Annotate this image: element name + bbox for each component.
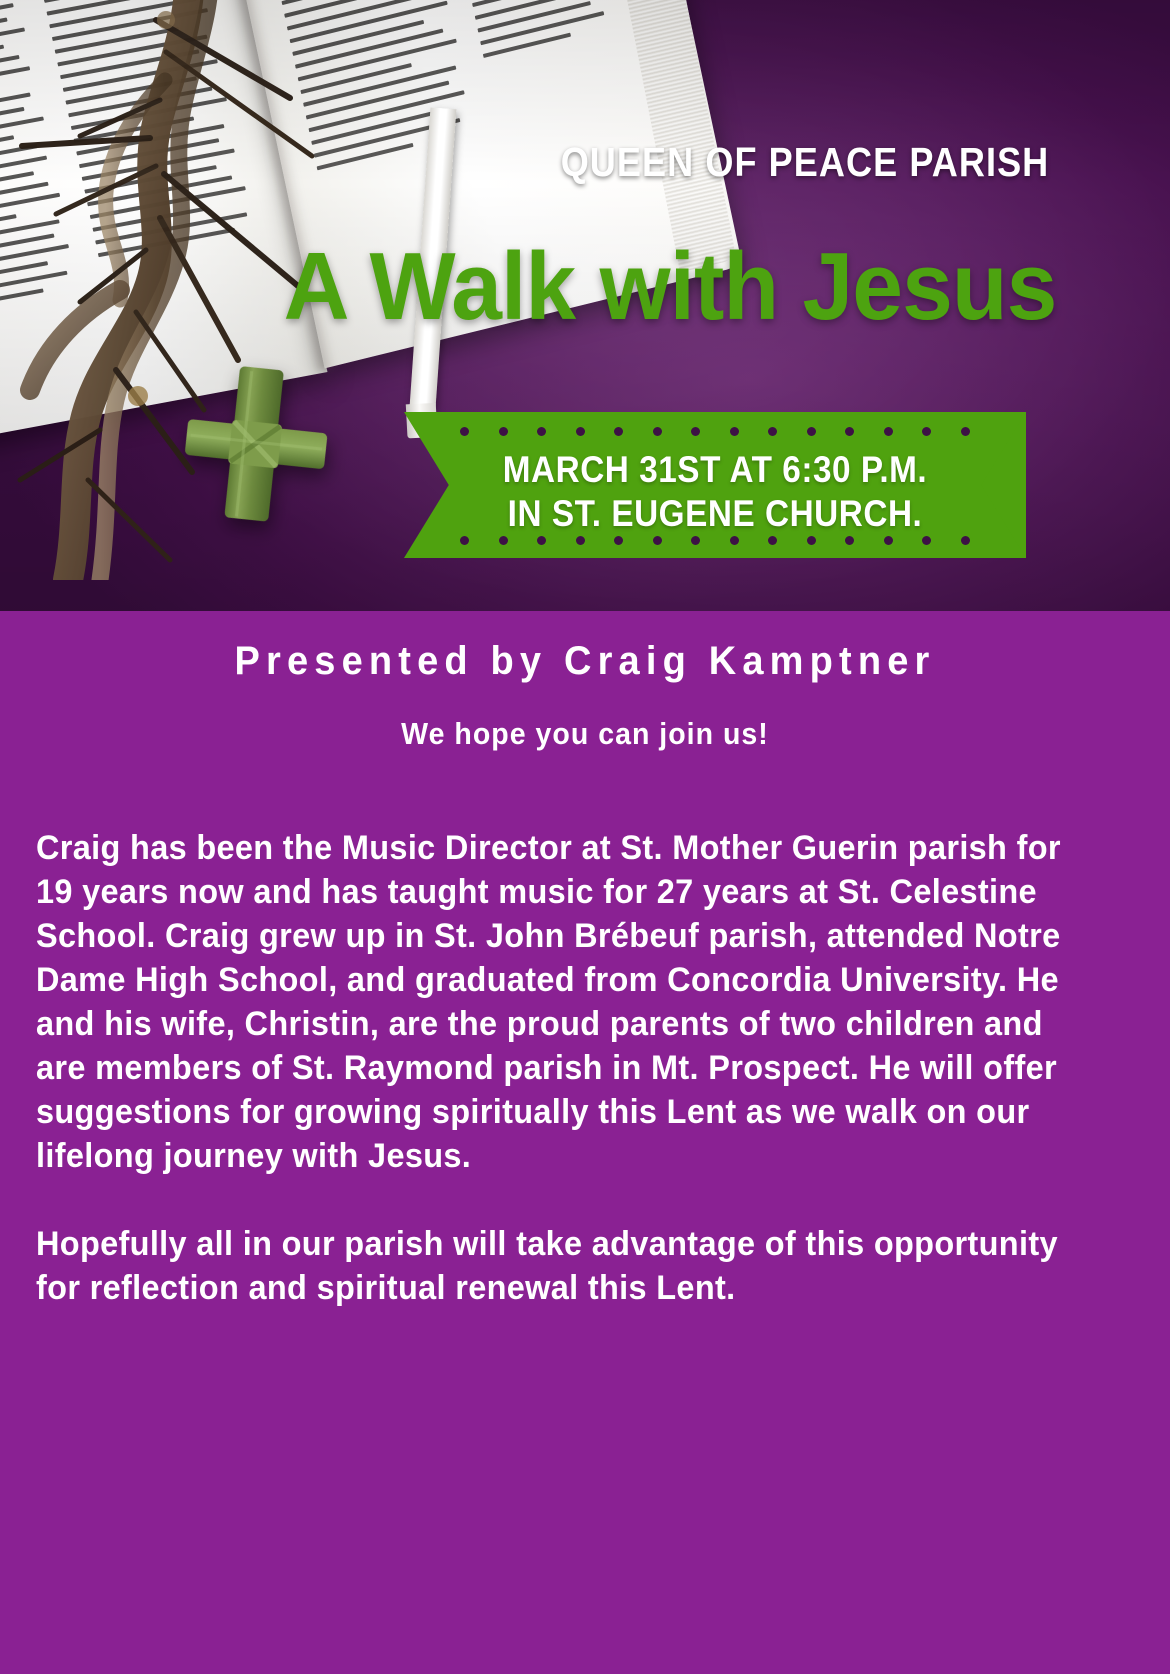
banner-dot	[845, 536, 854, 545]
bio-paragraph-2: Hopefully all in our parish will take ad…	[36, 1222, 1087, 1310]
banner-dot	[922, 536, 931, 545]
banner-dot	[614, 536, 623, 545]
banner-dot	[499, 536, 508, 545]
banner-dot	[537, 427, 546, 436]
banner-dot	[768, 427, 777, 436]
banner-dot	[807, 536, 816, 545]
banner-dot	[691, 427, 700, 436]
banner-dot	[807, 427, 816, 436]
banner-dot	[691, 536, 700, 545]
banner-line-2: IN ST. EUGENE CHURCH.	[435, 492, 995, 536]
paragraph-spacer	[36, 1178, 1087, 1222]
banner-dot	[730, 536, 739, 545]
banner-dot	[730, 427, 739, 436]
banner-dot	[768, 536, 777, 545]
banner-dot	[460, 427, 469, 436]
banner-dot	[961, 427, 970, 436]
poster-title: A Walk with Jesus	[276, 238, 1065, 336]
banner-dot	[845, 427, 854, 436]
banner-dot	[460, 536, 469, 545]
body-section: Presented by Craig Kamptner We hope you …	[0, 611, 1170, 1674]
banner-dot	[961, 536, 970, 545]
banner-dot	[922, 427, 931, 436]
banner-dot	[653, 536, 662, 545]
poster: 14	[0, 0, 1170, 1674]
hero-photo: 14	[0, 0, 1170, 611]
parish-kicker: QUEEN OF PEACE PARISH	[541, 139, 1069, 186]
invitation-subtitle: We hope you can join us!	[47, 716, 1123, 752]
banner-text: MARCH 31ST AT 6:30 P.M. IN ST. EUGENE CH…	[435, 448, 995, 535]
banner-dot	[537, 536, 546, 545]
banner-dot	[653, 427, 662, 436]
biography-text: Craig has been the Music Director at St.…	[36, 826, 1087, 1310]
event-details-banner: MARCH 31ST AT 6:30 P.M. IN ST. EUGENE CH…	[404, 412, 1026, 558]
banner-dots-bottom	[460, 535, 970, 545]
banner-dots-top	[460, 426, 970, 436]
banner-line-1: MARCH 31ST AT 6:30 P.M.	[435, 448, 995, 492]
banner-dot	[576, 536, 585, 545]
banner-dot	[499, 427, 508, 436]
bio-paragraph-1: Craig has been the Music Director at St.…	[36, 826, 1087, 1178]
banner-dot	[884, 427, 893, 436]
presenter-name: Presented by Craig Kamptner	[29, 639, 1141, 684]
banner-dot	[884, 536, 893, 545]
banner-dot	[614, 427, 623, 436]
banner-dot	[576, 427, 585, 436]
